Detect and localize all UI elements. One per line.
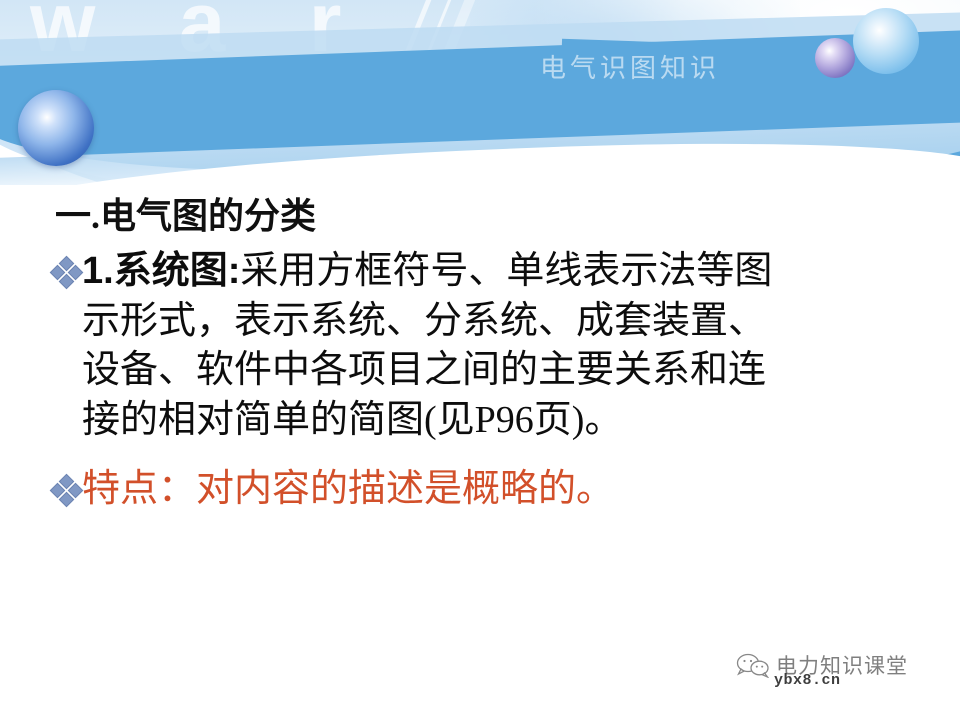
bullet-item-system-diagram: 1.系统图:采用方框符号、单线表示法等图 示形式，表示系统、分系统、成套装置、 … xyxy=(52,247,960,445)
bullet-line-text: 采用方框符号、单线表示法等图 xyxy=(240,250,772,292)
page-title: 一.电气图的分类 xyxy=(55,195,960,237)
bullet-lead-label: 1.系统图 xyxy=(82,250,228,292)
bullet-line: 示形式，表示系统、分系统、成套装置、 xyxy=(82,297,772,346)
bullet-text-block: 1.系统图:采用方框符号、单线表示法等图 示形式，表示系统、分系统、成套装置、 … xyxy=(82,247,772,445)
bullet-item-characteristic: 特点：对内容的描述是概略的。 xyxy=(52,465,960,518)
bullet-lead-label: 特点： xyxy=(82,468,196,510)
bullet-line-text: 对内容的描述是概略的。 xyxy=(196,468,614,510)
slide-canvas: w a r 电气识图知识 一.电气图的分类 1.系统图:采用方框符号、单线表示法… xyxy=(0,0,960,720)
bullet-lead-separator: : xyxy=(228,250,241,292)
header-ghost-chinese-title: 电气识图知识 xyxy=(540,48,720,85)
watermark-url: ybx8.cn xyxy=(774,672,841,689)
bullet-text-block: 特点：对内容的描述是概略的。 xyxy=(82,465,614,514)
bullet-line: 特点：对内容的描述是概略的。 xyxy=(82,465,614,514)
purple-sphere-icon xyxy=(815,38,855,78)
slide-body: 一.电气图的分类 1.系统图:采用方框符号、单线表示法等图 示形式，表示系统、分… xyxy=(0,195,960,518)
four-diamond-bullet-icon xyxy=(52,258,82,300)
blue-sphere-icon xyxy=(853,8,919,74)
watermark: 电力知识课堂 ybx8.cn xyxy=(736,650,946,706)
bullet-line: 设备、软件中各项目之间的主要关系和连 xyxy=(82,346,772,395)
bullet-line: 1.系统图:采用方框符号、单线表示法等图 xyxy=(82,247,772,296)
slide-header-decoration: w a r 电气识图知识 xyxy=(0,0,960,185)
navy-sphere-icon xyxy=(18,90,94,166)
bullet-line: 接的相对简单的简图(见P96页)。 xyxy=(82,396,772,445)
four-diamond-bullet-icon xyxy=(52,476,82,518)
wechat-icon xyxy=(736,652,770,678)
